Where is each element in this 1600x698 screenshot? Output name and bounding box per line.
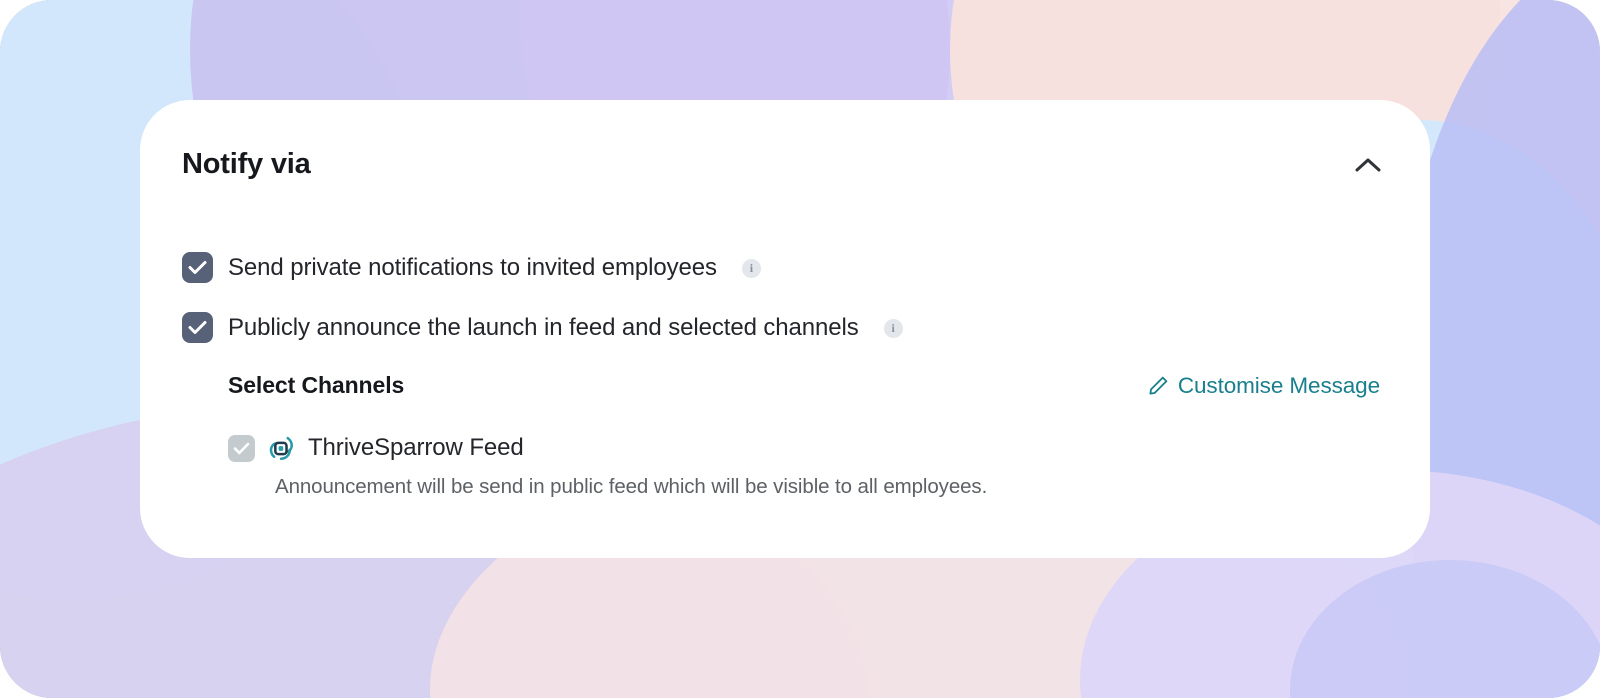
option-row-public-announce[interactable]: Publicly announce the launch in feed and… <box>182 312 1388 343</box>
select-channels-header: Select Channels Customise Message <box>228 372 1388 399</box>
select-channels-section: Select Channels Customise Message <box>228 372 1388 499</box>
checkbox-public-announce[interactable] <box>182 312 213 343</box>
chevron-up-icon <box>1355 157 1381 173</box>
check-icon <box>188 320 207 335</box>
page-title: Notify via <box>182 148 311 181</box>
option-label-private-notifications: Send private notifications to invited em… <box>228 254 717 282</box>
channel-description-thrivesparrow-feed: Announcement will be send in public feed… <box>275 475 1388 499</box>
check-icon <box>188 260 207 275</box>
notification-options: Send private notifications to invited em… <box>182 252 1388 499</box>
info-icon-public-announce[interactable]: i <box>884 319 903 338</box>
customise-message-label: Customise Message <box>1178 373 1380 399</box>
customise-message-link[interactable]: Customise Message <box>1148 373 1380 399</box>
screenshot-frame: Notify via Send private n <box>0 0 1600 698</box>
notify-via-card: Notify via Send private n <box>140 100 1430 558</box>
select-channels-title: Select Channels <box>228 372 404 399</box>
channel-name-thrivesparrow-feed: ThriveSparrow Feed <box>308 434 524 462</box>
thrivesparrow-logo-icon <box>268 435 295 462</box>
option-row-private-notifications[interactable]: Send private notifications to invited em… <box>182 252 1388 283</box>
checkbox-private-notifications[interactable] <box>182 252 213 283</box>
channel-row-thrivesparrow-feed[interactable]: ThriveSparrow Feed <box>228 434 1388 462</box>
checkbox-thrivesparrow-feed <box>228 435 255 462</box>
pencil-icon <box>1148 375 1169 396</box>
collapse-section-button[interactable] <box>1348 149 1388 181</box>
check-icon <box>233 442 250 455</box>
option-label-public-announce: Publicly announce the launch in feed and… <box>228 314 859 342</box>
info-icon-private-notifications[interactable]: i <box>742 259 761 278</box>
card-header: Notify via <box>182 148 1388 181</box>
